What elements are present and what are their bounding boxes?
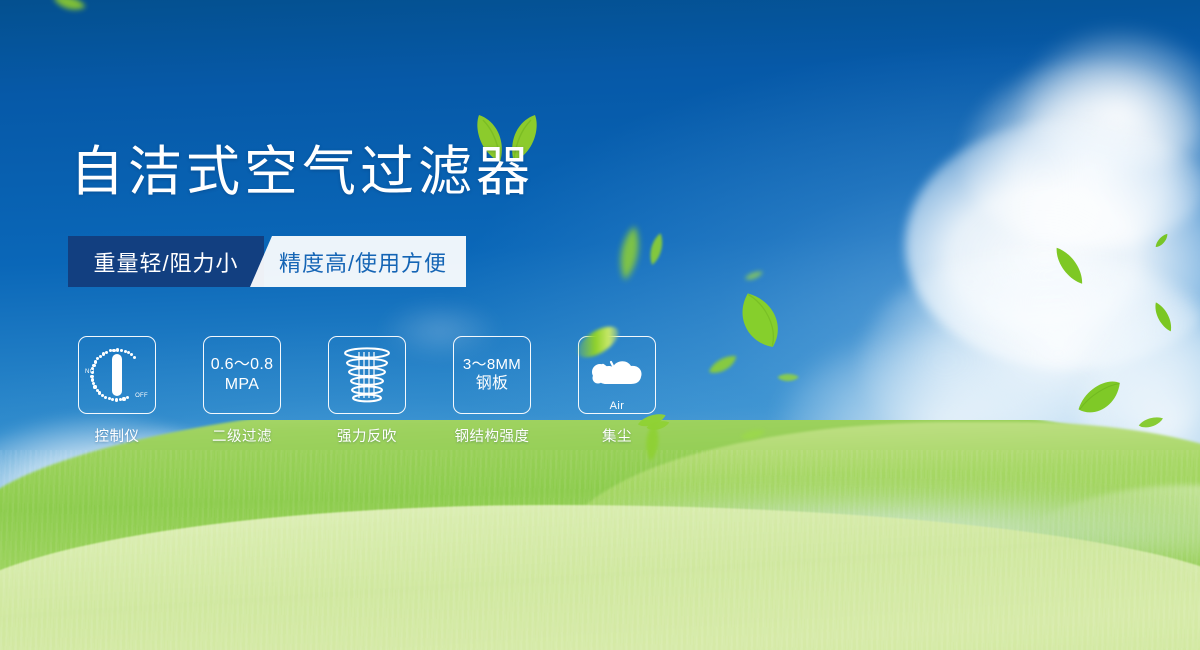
feature-label: 钢结构强度 [455,425,530,446]
gauge-tick-dot [91,378,94,381]
gauge-tick-dot [119,398,122,401]
subtitle-left-text: 重量轻/阻力小 [93,246,238,278]
feature-item-dust-collection[interactable]: Air 集尘 [578,336,656,446]
gauge-tick-dot [126,396,129,399]
feature-item-pulse-blowback[interactable]: 强力反吹 [328,336,406,446]
gauge-tick-dot [115,398,118,401]
gauge-tick-dot [96,389,99,392]
gauge-tick-dot [98,391,101,394]
subtitle-bar: 重量轻/阻力小 精度高/使用方便 [68,236,466,287]
feature-list: NO OFF 控制仪 0.6～0.8 MPA 二级过滤 [78,336,656,446]
gauge-tick-dot [93,385,96,388]
feature-item-controller[interactable]: NO OFF 控制仪 [78,336,156,446]
grass-texture [0,450,1200,650]
gauge-tick-dot [104,396,107,399]
subtitle-right-text: 精度高/使用方便 [269,246,447,278]
gauge-off-label: OFF [135,393,148,399]
gauge-dial-icon: NO OFF [87,345,147,405]
air-cloud-icon: Air [589,352,645,398]
feature-item-two-stage-filter[interactable]: 0.6～0.8 MPA 二级过滤 [203,336,281,446]
gauge-tick-dot [90,375,93,378]
gauge-tick-dot [105,351,108,354]
gauge-tick-dot [122,397,125,400]
gauge-tick-dot [133,356,136,359]
gauge-tick-dot [112,349,115,352]
feature-icon-box: Air [578,336,656,414]
grass-field [0,420,1200,650]
feature-label: 强力反吹 [337,425,397,446]
pressure-range-text: 0.6～0.8 [211,355,274,375]
gauge-needle [112,354,122,396]
feature-item-steel-strength[interactable]: 3～8MM 钢板 钢结构强度 [453,336,531,446]
steel-thickness-text: 3～8MM [463,356,521,375]
feature-icon-box [328,336,406,414]
steel-material-text: 钢板 [476,374,509,394]
gauge-tick-dot [91,371,94,374]
feature-label: 控制仪 [95,425,140,446]
subtitle-right-panel: 精度高/使用方便 [250,236,466,287]
feature-label: 集尘 [602,425,632,446]
pressure-unit-text: MPA [225,375,259,395]
gauge-tick-dot [116,348,119,351]
gauge-tick-dot [92,364,95,367]
gauge-tick-dot [111,398,114,401]
feature-label: 二级过滤 [212,425,272,446]
gauge-tick-dot [120,349,123,352]
page-title: 自洁式空气过滤器 [70,145,534,199]
feature-icon-box: 3～8MM 钢板 [453,336,531,414]
subtitle-left-panel: 重量轻/阻力小 [68,236,264,287]
feature-icon-box: NO OFF [78,336,156,414]
air-label: Air [589,400,645,412]
coil-stack-icon [339,346,395,404]
gauge-tick-dot [94,360,97,363]
product-hero-banner: 自洁式空气过滤器 重量轻/阻力小 精度高/使用方便 NO OFF 控制仪 0.6 [0,0,1200,650]
feature-icon-box: 0.6～0.8 MPA [203,336,281,414]
